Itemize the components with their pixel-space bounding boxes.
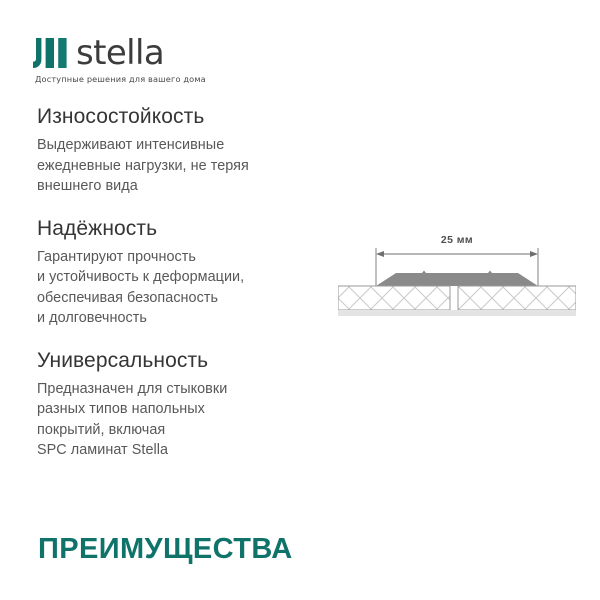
brand-logo: stella Доступные решения для вашего дома	[33, 36, 293, 85]
feature-list: Износостойкость Выдерживают интенсивные …	[37, 104, 337, 461]
section-title-advantages: ПРЕИМУЩЕСТВА	[38, 532, 293, 566]
floor-panel-left-hatch	[339, 287, 450, 310]
arrowhead-left-icon	[376, 251, 384, 257]
transition-profile-shape	[376, 271, 538, 287]
dimension-label: 25 мм	[338, 234, 576, 246]
logo-tagline: Доступные решения для вашего дома	[35, 74, 293, 85]
feature-item: Надёжность Гарантируют прочность и устой…	[37, 216, 337, 329]
floor-panel-right-hatch	[459, 287, 576, 310]
feature-title: Надёжность	[37, 216, 337, 242]
feature-body: Выдерживают интенсивные ежедневные нагру…	[37, 135, 337, 197]
poster-canvas: stella Доступные решения для вашего дома…	[0, 0, 600, 600]
logo-row: stella	[33, 36, 293, 70]
feature-body: Предназначен для стыковки разных типов н…	[37, 379, 337, 461]
feature-item: Износостойкость Выдерживают интенсивные …	[37, 104, 337, 197]
arrowhead-right-icon	[530, 251, 538, 257]
feature-title: Износостойкость	[37, 104, 337, 130]
logo-wordmark: stella	[76, 36, 164, 70]
feature-body: Гарантируют прочность и устойчивость к д…	[37, 247, 337, 329]
subfloor-strip	[338, 310, 576, 316]
feature-item: Универсальность Предназначен для стыковк…	[37, 348, 337, 461]
feature-title: Универсальность	[37, 348, 337, 374]
stella-logo-bars-icon	[33, 38, 69, 68]
profile-cross-section-diagram: 25 мм	[338, 232, 576, 318]
